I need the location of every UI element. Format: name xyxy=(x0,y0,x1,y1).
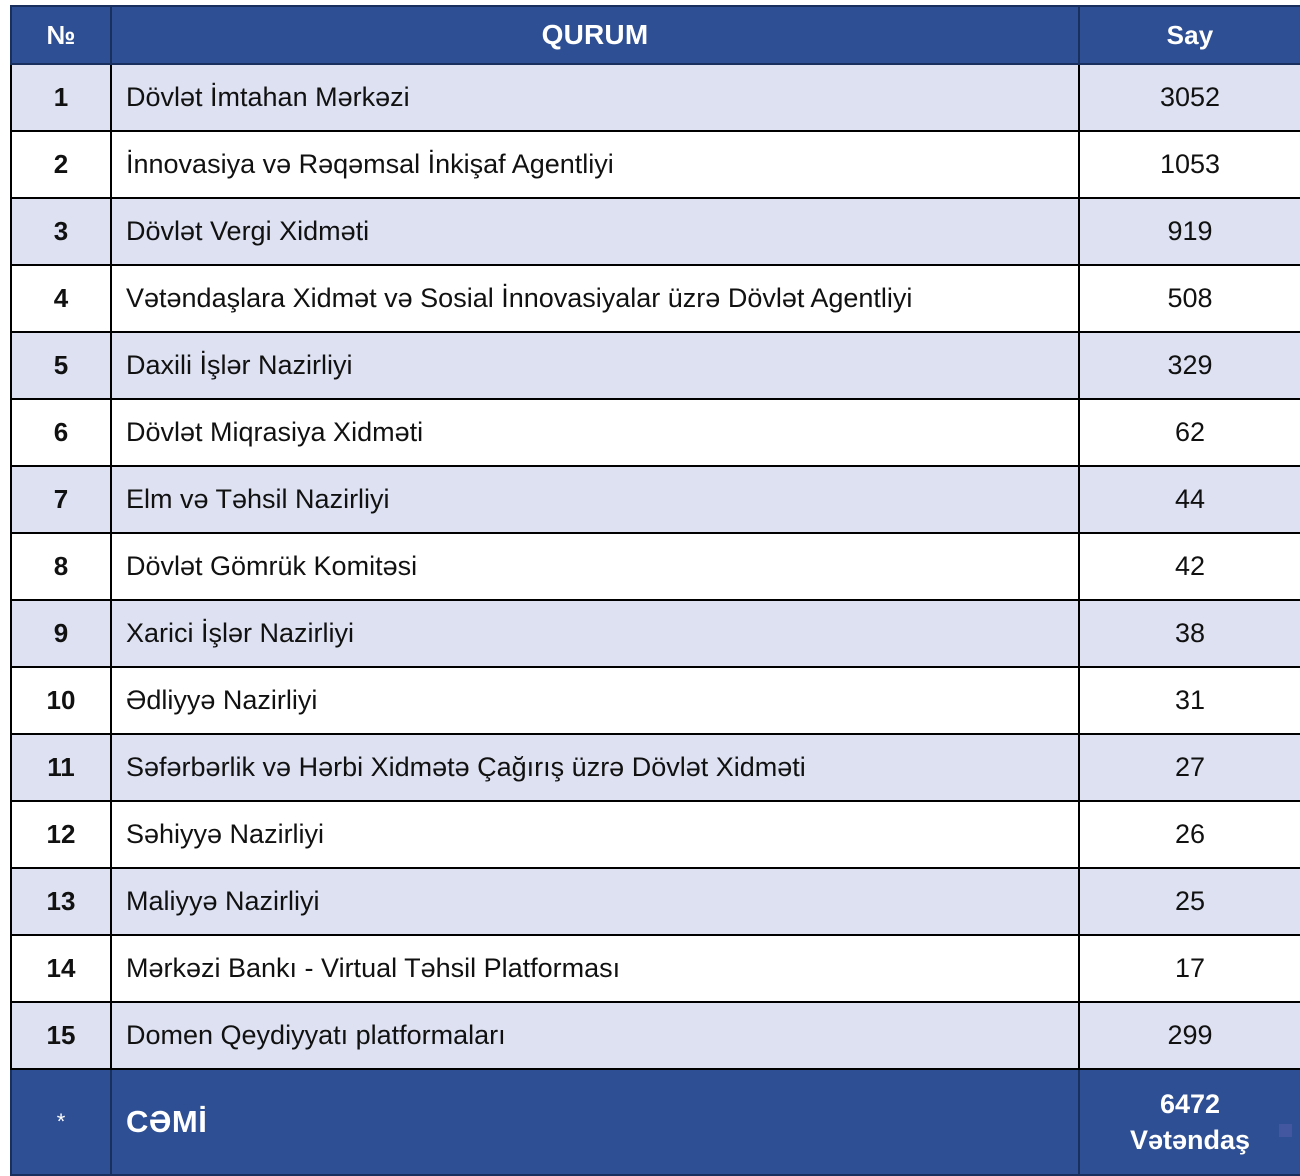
organization-name-cell[interactable]: Səhiyyə Nazirliyi xyxy=(111,801,1079,868)
count-cell[interactable]: 27 xyxy=(1079,734,1300,801)
total-count-cell: 6472Vətəndaş xyxy=(1079,1069,1300,1175)
organization-name-cell[interactable]: Elm və Təhsil Nazirliyi xyxy=(111,466,1079,533)
total-label-cell: CƏMİ xyxy=(111,1069,1079,1175)
table-row[interactable]: 12Səhiyyə Nazirliyi26 xyxy=(11,801,1300,868)
count-cell[interactable]: 38 xyxy=(1079,600,1300,667)
organization-name-cell[interactable]: Xarici İşlər Nazirliyi xyxy=(111,600,1079,667)
row-number-cell[interactable]: 13 xyxy=(11,868,111,935)
count-cell[interactable]: 62 xyxy=(1079,399,1300,466)
table-row[interactable]: 15Domen Qeydiyyatı platformaları299 xyxy=(11,1002,1300,1069)
table-row[interactable]: 6Dövlət Miqrasiya Xidməti62 xyxy=(11,399,1300,466)
column-header-say[interactable]: Say xyxy=(1079,6,1300,64)
table-row[interactable]: 3Dövlət Vergi Xidməti919 xyxy=(11,198,1300,265)
organization-name-cell[interactable]: Vətəndaşlara Xidmət və Sosial İnnovasiya… xyxy=(111,265,1079,332)
count-cell[interactable]: 31 xyxy=(1079,667,1300,734)
total-count-unit: Vətəndaş xyxy=(1088,1122,1292,1158)
table-row[interactable]: 1Dövlət İmtahan Mərkəzi3052 xyxy=(11,64,1300,131)
count-cell[interactable]: 17 xyxy=(1079,935,1300,1002)
table-body: 1Dövlət İmtahan Mərkəzi30522İnnovasiya v… xyxy=(11,64,1300,1175)
table-row[interactable]: 14Mərkəzi Bankı - Virtual Təhsil Platfor… xyxy=(11,935,1300,1002)
count-cell[interactable]: 42 xyxy=(1079,533,1300,600)
count-cell[interactable]: 3052 xyxy=(1079,64,1300,131)
row-number-cell[interactable]: 8 xyxy=(11,533,111,600)
organizations-table: № QURUM Say 1Dövlət İmtahan Mərkəzi30522… xyxy=(10,5,1300,1176)
count-cell[interactable]: 25 xyxy=(1079,868,1300,935)
count-cell[interactable]: 919 xyxy=(1079,198,1300,265)
organization-name-cell[interactable]: Dövlət İmtahan Mərkəzi xyxy=(111,64,1079,131)
row-number-cell[interactable]: 14 xyxy=(11,935,111,1002)
count-cell[interactable]: 299 xyxy=(1079,1002,1300,1069)
row-number-cell[interactable]: 12 xyxy=(11,801,111,868)
count-cell[interactable]: 44 xyxy=(1079,466,1300,533)
count-cell[interactable]: 1053 xyxy=(1079,131,1300,198)
table-row[interactable]: 10Ədliyyə Nazirliyi31 xyxy=(11,667,1300,734)
spreadsheet-canvas: № QURUM Say 1Dövlət İmtahan Mərkəzi30522… xyxy=(0,0,1300,1143)
column-header-qurum[interactable]: QURUM xyxy=(111,6,1079,64)
column-header-no[interactable]: № xyxy=(11,6,111,64)
organization-name-cell[interactable]: Dövlət Miqrasiya Xidməti xyxy=(111,399,1079,466)
organization-name-cell[interactable]: Maliyyə Nazirliyi xyxy=(111,868,1079,935)
organization-name-cell[interactable]: Daxili İşlər Nazirliyi xyxy=(111,332,1079,399)
table-row[interactable]: 4Vətəndaşlara Xidmət və Sosial İnnovasiy… xyxy=(11,265,1300,332)
row-number-cell[interactable]: 6 xyxy=(11,399,111,466)
header-row: № QURUM Say xyxy=(11,6,1300,64)
row-number-cell[interactable]: 2 xyxy=(11,131,111,198)
row-number-cell[interactable]: 7 xyxy=(11,466,111,533)
table-row[interactable]: 5Daxili İşlər Nazirliyi329 xyxy=(11,332,1300,399)
row-number-cell[interactable]: 1 xyxy=(11,64,111,131)
row-number-cell[interactable]: 4 xyxy=(11,265,111,332)
row-number-cell[interactable]: 10 xyxy=(11,667,111,734)
table-row[interactable]: 13Maliyyə Nazirliyi25 xyxy=(11,868,1300,935)
row-number-cell[interactable]: 5 xyxy=(11,332,111,399)
row-number-cell[interactable]: 15 xyxy=(11,1002,111,1069)
table-row[interactable]: 2İnnovasiya və Rəqəmsal İnkişaf Agentliy… xyxy=(11,131,1300,198)
total-count-number: 6472 xyxy=(1088,1086,1292,1122)
organization-name-cell[interactable]: Səfərbərlik və Hərbi Xidmətə Çağırış üzr… xyxy=(111,734,1079,801)
total-row[interactable]: *CƏMİ6472Vətəndaş xyxy=(11,1069,1300,1175)
count-cell[interactable]: 508 xyxy=(1079,265,1300,332)
table-row[interactable]: 7Elm və Təhsil Nazirliyi44 xyxy=(11,466,1300,533)
table-row[interactable]: 9Xarici İşlər Nazirliyi38 xyxy=(11,600,1300,667)
row-number-cell[interactable]: 11 xyxy=(11,734,111,801)
table-row[interactable]: 11Səfərbərlik və Hərbi Xidmətə Çağırış ü… xyxy=(11,734,1300,801)
table-row[interactable]: 8Dövlət Gömrük Komitəsi42 xyxy=(11,533,1300,600)
table-header: № QURUM Say xyxy=(11,6,1300,64)
count-cell[interactable]: 329 xyxy=(1079,332,1300,399)
organization-name-cell[interactable]: Mərkəzi Bankı - Virtual Təhsil Platforma… xyxy=(111,935,1079,1002)
organization-name-cell[interactable]: Domen Qeydiyyatı platformaları xyxy=(111,1002,1079,1069)
organization-name-cell[interactable]: Dövlət Gömrük Komitəsi xyxy=(111,533,1079,600)
row-number-cell[interactable]: 3 xyxy=(11,198,111,265)
organization-name-cell[interactable]: Ədliyyə Nazirliyi xyxy=(111,667,1079,734)
organization-name-cell[interactable]: İnnovasiya və Rəqəmsal İnkişaf Agentliyi xyxy=(111,131,1079,198)
row-number-cell[interactable]: 9 xyxy=(11,600,111,667)
total-marker-cell: * xyxy=(11,1069,111,1175)
count-cell[interactable]: 26 xyxy=(1079,801,1300,868)
organization-name-cell[interactable]: Dövlət Vergi Xidməti xyxy=(111,198,1079,265)
